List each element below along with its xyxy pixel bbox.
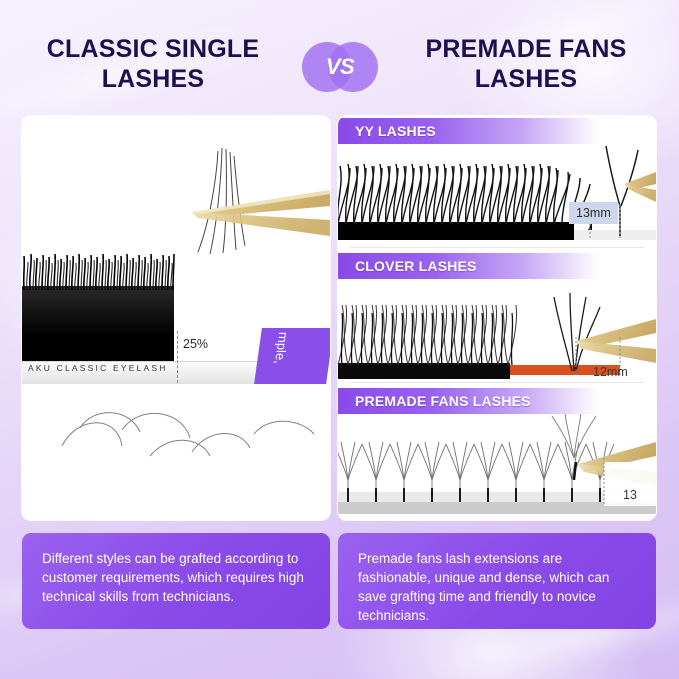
infographic-root: CLASSIC SINGLE LASHES VS PREMADE FANS LA… (0, 0, 679, 679)
section-divider (350, 247, 644, 248)
brand-label: AKU CLASSIC EYELASH (28, 363, 168, 373)
classic-lashes-panel: AKU CLASSIC EYELASH 25% mple, (22, 116, 330, 520)
section-title: PREMADE FANS LASHES (338, 393, 531, 409)
percent-label: 25% (180, 336, 211, 352)
section-header-clover-lashes: CLOVER LASHES (338, 253, 656, 279)
sample-tag-label: mple, (272, 332, 291, 364)
section-divider (350, 382, 644, 383)
section-header-yy-lashes: YY LASHES (338, 118, 656, 144)
vs-badge: VS (302, 42, 378, 92)
section-header-premade-fans-lashes: PREMADE FANS LASHES (338, 388, 656, 414)
section-title: YY LASHES (338, 123, 436, 139)
left-title: CLASSIC SINGLE LASHES (8, 34, 298, 94)
measure-label-clover: 12mm (586, 361, 635, 383)
right-title: PREMADE FANS LASHES (381, 34, 671, 94)
measure-label-yy: 13mm (569, 202, 618, 224)
measure-label-premade: 13 (616, 484, 644, 506)
vs-label: VS (302, 42, 378, 92)
section-title: CLOVER LASHES (338, 258, 477, 274)
right-caption: Premade fans lash extensions are fashion… (338, 533, 656, 629)
classic-lash-illustration (22, 116, 330, 520)
yy-lashes-illustration (338, 144, 656, 256)
sample-tag: mple, (254, 328, 330, 384)
premade-fans-illustration (338, 414, 656, 520)
measurement-tick (177, 331, 178, 383)
header: CLASSIC SINGLE LASHES VS PREMADE FANS LA… (0, 0, 679, 112)
left-caption: Different styles can be grafted accordin… (22, 533, 330, 629)
premade-fans-panel: YY LASHES (338, 116, 656, 520)
